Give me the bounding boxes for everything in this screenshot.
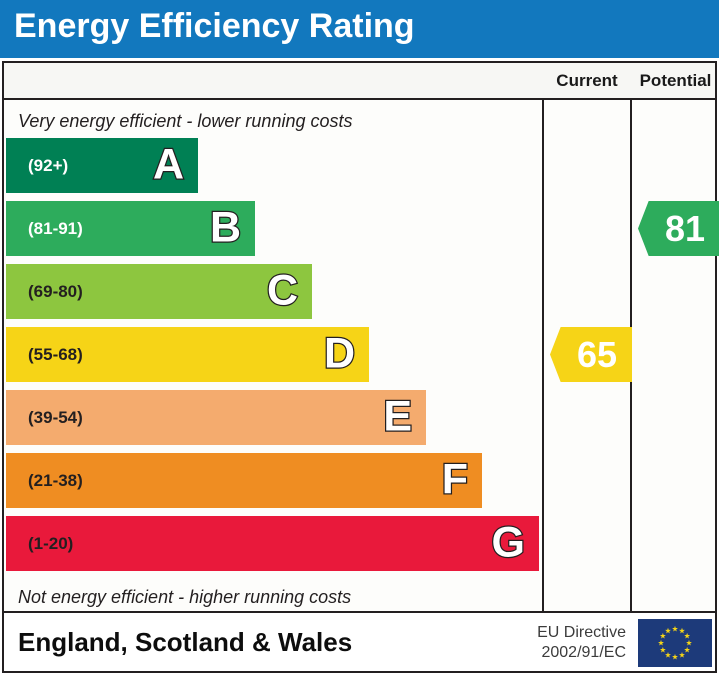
caption-bottom: Not energy efficient - higher running co… [18, 587, 351, 608]
footer-region-label: England, Scotland & Wales [18, 627, 352, 658]
current-rating-marker: 65 [550, 327, 632, 382]
column-header-potential: Potential [632, 71, 719, 91]
band-letter-f: F [442, 458, 468, 501]
band-range-d: (55-68) [28, 345, 83, 365]
column-header-current: Current [544, 71, 630, 91]
band-row-c: (69-80)C [6, 264, 312, 319]
footer-directive-line1: EU Directive [516, 623, 626, 643]
column-divider-current [542, 63, 544, 611]
band-range-e: (39-54) [28, 408, 83, 428]
potential-rating-marker: 81 [638, 201, 719, 256]
table-header-row: Current Potential [4, 63, 715, 100]
band-row-a: (92+)A [6, 138, 198, 193]
band-range-c: (69-80) [28, 282, 83, 302]
band-row-f: (21-38)F [6, 453, 482, 508]
current-rating-value: 65 [565, 337, 617, 373]
band-row-b: (81-91)B [6, 201, 255, 256]
band-row-g: (1-20)G [6, 516, 539, 571]
band-row-e: (39-54)E [6, 390, 426, 445]
potential-rating-value: 81 [653, 211, 705, 247]
band-range-b: (81-91) [28, 219, 83, 239]
page-title: Energy Efficiency Rating [14, 7, 415, 46]
band-letter-d: D [324, 332, 355, 375]
band-range-f: (21-38) [28, 471, 83, 491]
footer-directive-line2: 2002/91/EC [516, 643, 626, 663]
chart-header: Energy Efficiency Rating [0, 0, 719, 58]
band-letter-a: A [153, 143, 184, 186]
band-letter-b: B [210, 206, 241, 249]
caption-top: Very energy efficient - lower running co… [18, 111, 353, 132]
rating-table: Current Potential Very energy efficient … [2, 61, 717, 613]
band-scale: Very energy efficient - lower running co… [4, 100, 540, 613]
energy-efficiency-rating-chart: Energy Efficiency Rating Current Potenti… [0, 0, 719, 675]
band-range-a: (92+) [28, 156, 68, 176]
footer-directive: EU Directive 2002/91/EC [516, 623, 626, 663]
band-row-d: (55-68)D [6, 327, 369, 382]
band-letter-c: C [267, 269, 298, 312]
chart-footer: England, Scotland & Wales EU Directive 2… [2, 613, 717, 673]
band-letter-e: E [383, 395, 412, 438]
band-range-g: (1-20) [28, 534, 73, 554]
band-letter-g: G [492, 521, 525, 564]
eu-flag-icon [638, 619, 712, 667]
